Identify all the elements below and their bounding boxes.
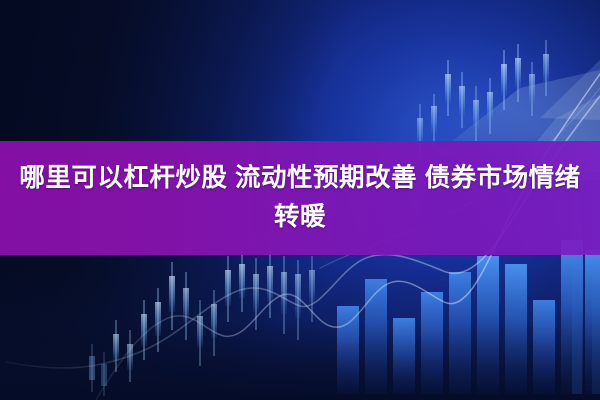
banner-title-line-2: 转暖 [274,199,326,236]
banner-image: 哪里可以杠杆炒股 流动性预期改善 债券市场情绪 转暖 [0,0,600,400]
title-banner: 哪里可以杠杆炒股 流动性预期改善 债券市场情绪 转暖 [0,141,600,255]
banner-title-line-1: 哪里可以杠杆炒股 流动性预期改善 债券市场情绪 [19,160,580,197]
candlestick-series-lower [113,250,315,382]
candlestick-series-left-faint [89,344,107,396]
